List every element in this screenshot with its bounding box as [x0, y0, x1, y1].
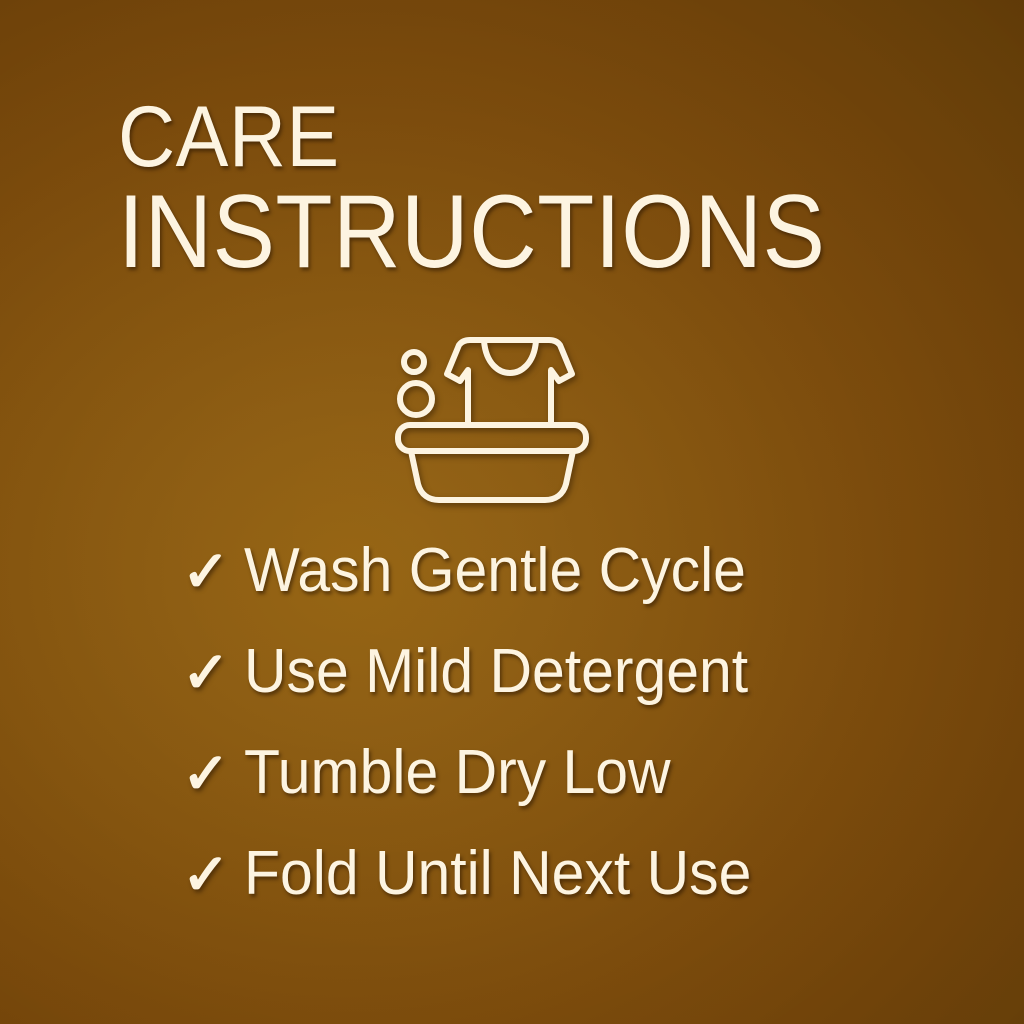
check-icon: ✓ — [182, 544, 244, 601]
checklist-item-label: Fold Until Next Use — [244, 843, 751, 905]
list-item: ✓ Wash Gentle Cycle — [182, 540, 962, 641]
title-line-care: CARE — [118, 96, 854, 179]
checklist-item-label: Tumble Dry Low — [244, 742, 671, 804]
list-item: ✓ Use Mild Detergent — [182, 641, 962, 742]
tshirt-left-body-icon — [460, 370, 468, 425]
check-icon: ✓ — [182, 645, 244, 702]
card-content: CARE INSTRUCTIONS — [0, 0, 1024, 1024]
basin-rim-icon — [398, 425, 586, 451]
check-icon: ✓ — [182, 746, 244, 803]
check-icon: ✓ — [182, 847, 244, 904]
checklist-item-label: Wash Gentle Cycle — [244, 540, 746, 602]
tshirt-in-wash-basin-icon — [377, 326, 607, 512]
basin-tub-icon — [411, 451, 573, 500]
page-title: CARE INSTRUCTIONS — [118, 96, 918, 282]
care-checklist: ✓ Wash Gentle Cycle ✓ Use Mild Detergent… — [182, 540, 962, 944]
list-item: ✓ Tumble Dry Low — [182, 742, 962, 843]
list-item: ✓ Fold Until Next Use — [182, 843, 962, 944]
checklist-item-label: Use Mild Detergent — [244, 641, 748, 703]
care-instructions-card: CARE INSTRUCTIONS — [0, 0, 1024, 1024]
tshirt-collar-icon — [484, 341, 536, 373]
title-line-instructions: INSTRUCTIONS — [118, 183, 838, 283]
bubble-large-icon — [400, 383, 432, 415]
bubble-small-icon — [404, 352, 424, 372]
